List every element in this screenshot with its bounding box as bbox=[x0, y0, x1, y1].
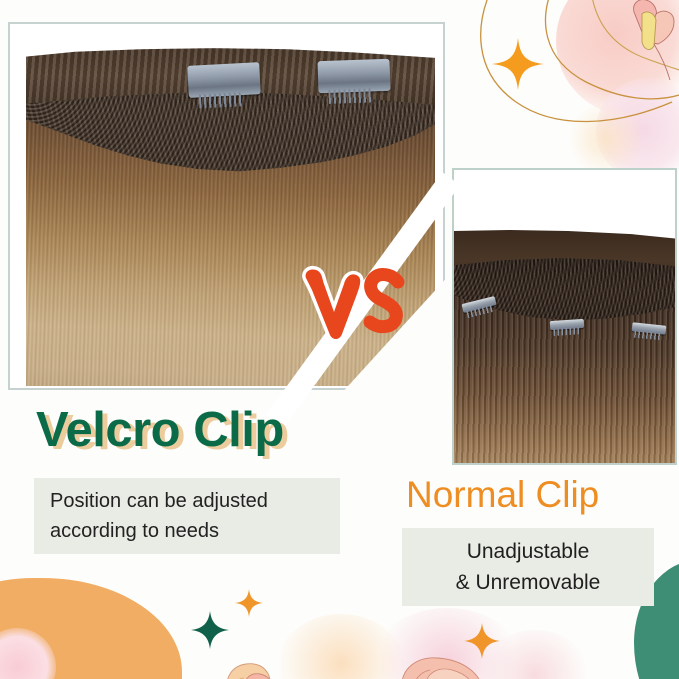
normal-clip-description-line1: Unadjustable bbox=[467, 536, 590, 567]
infographic-canvas: Velcro Clip Position can be adjusted acc… bbox=[0, 0, 679, 679]
normal-clip-heading: Normal Clip bbox=[406, 474, 599, 516]
snap-clip-right-icon bbox=[317, 59, 390, 93]
pink-blob-bottom-left bbox=[0, 628, 56, 679]
velcro-clip-description-box: Position can be adjusted according to ne… bbox=[34, 478, 340, 554]
versus-badge bbox=[300, 264, 408, 342]
snap-clip-rivets bbox=[324, 66, 341, 87]
sparkle-top-right-icon bbox=[490, 36, 546, 92]
normal-clip-description-box: Unadjustable & Unremovable bbox=[402, 528, 654, 606]
snap-clip-left-icon bbox=[187, 62, 261, 98]
tulip-top-right-icon bbox=[616, 0, 679, 86]
normal-clip-photo-panel bbox=[452, 168, 677, 465]
sewn-clip-2-icon bbox=[550, 319, 585, 330]
snap-clip-rivets bbox=[194, 71, 211, 92]
sparkle-bottom-center-orange-icon bbox=[234, 588, 264, 618]
normal-clip-description-line2: & Unremovable bbox=[456, 567, 601, 598]
orange-blob-bottom-left bbox=[0, 578, 182, 679]
velcro-clip-description: Position can be adjusted according to ne… bbox=[50, 486, 324, 546]
velcro-clip-heading: Velcro Clip bbox=[36, 402, 284, 458]
sparkle-bottom-center-green-icon bbox=[190, 610, 230, 650]
flower-bottom-center-icon bbox=[218, 648, 310, 679]
flower-bottom-right-icon bbox=[396, 640, 506, 679]
